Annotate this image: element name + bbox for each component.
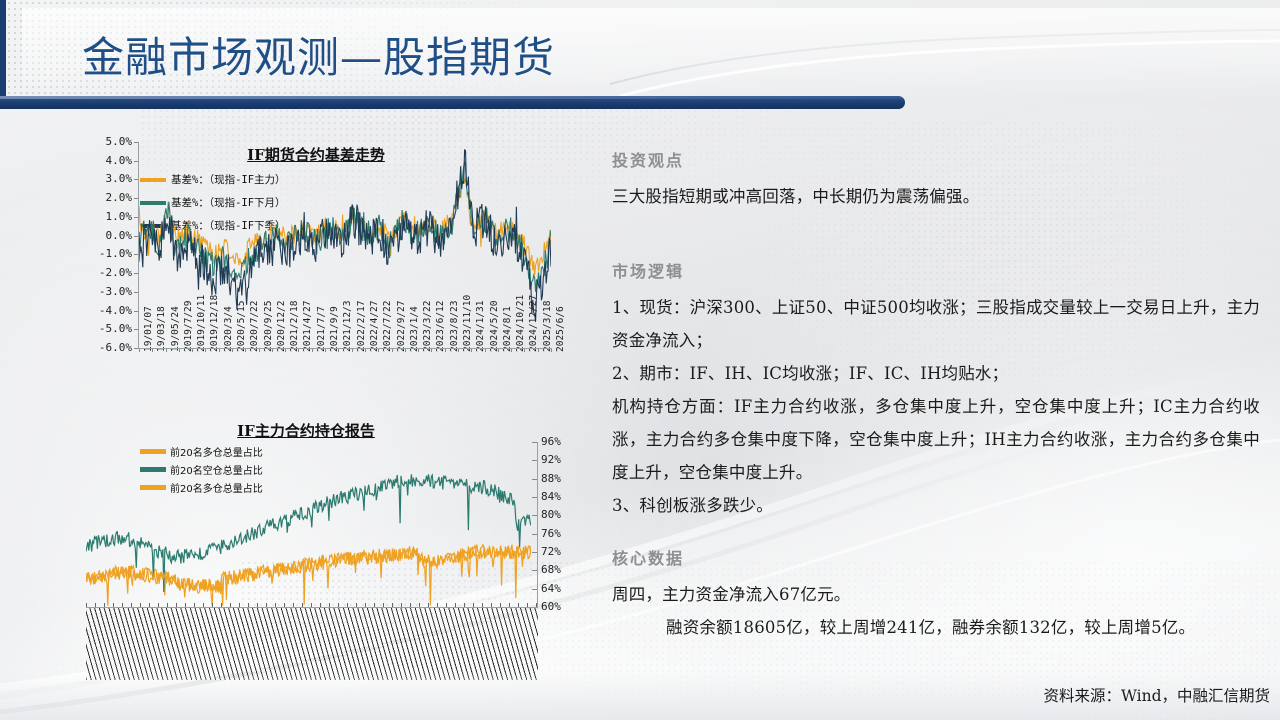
basis-chart-y-tick: 4.0%: [58, 154, 132, 167]
section-paragraph: 2、期市：IF、IH、IC均收涨；IF、IC、IH均贴水；: [612, 357, 1260, 390]
section-heading: 投资观点: [612, 146, 1260, 176]
section-spacer: [612, 213, 1260, 257]
holdings-chart-y-tick: 72%: [541, 545, 561, 558]
holdings-chart-x-tick-labels: [86, 608, 538, 680]
basis-chart-y-tick: 1.0%: [58, 210, 132, 223]
holdings-chart-y-tick: 92%: [541, 453, 561, 466]
holdings-chart-x-tick-marks: [86, 603, 538, 607]
basis-chart-x-tick: 2022/9/27: [396, 301, 407, 352]
section-paragraph: 3、科创板涨多跌少。: [612, 489, 1260, 522]
holdings-chart-y-tick: 84%: [541, 490, 561, 503]
source-note: 资料来源：Wind，中融汇信期货: [630, 684, 1270, 706]
basis-chart-x-tick: 2024/12/27: [528, 295, 539, 352]
basis-chart-x-tick: 2021/12/3: [342, 301, 353, 352]
basis-chart-x-tick: 2019/7/29: [183, 301, 194, 352]
section-paragraph: 机构持仓方面：IF主力合约收涨，多仓集中度上升，空仓集中度上升；IC主力合约收涨…: [612, 390, 1260, 489]
basis-chart-x-tick: 19/05/24: [170, 306, 181, 352]
basis-chart-y-tick: -1.0%: [58, 247, 132, 260]
section-heading: 核心数据: [612, 544, 1260, 574]
holdings-chart-y-tick: 88%: [541, 472, 561, 485]
basis-chart-y-tick: -5.0%: [58, 322, 132, 335]
basis-chart-y-tick: 0.0%: [58, 229, 132, 242]
basis-chart-x-tick: 2021/7/7: [316, 306, 327, 352]
section-spacer: [612, 522, 1260, 544]
basis-chart-x-tick: 2025/3/18: [542, 301, 553, 352]
basis-chart-x-tick: 2023/11/10: [462, 295, 473, 352]
holdings-chart-y-tick: 96%: [541, 435, 561, 448]
commentary-panel: 投资观点三大股指短期或冲高回落，中长期仍为震荡偏强。市场逻辑1、现货：沪深300…: [612, 146, 1260, 644]
basis-chart-x-tick: 2023/3/22: [422, 301, 433, 352]
holdings-chart-plot-area: [86, 442, 531, 607]
basis-chart-x-tick: 2020/12/2: [276, 301, 287, 352]
basis-chart-x-tick: 2020/7/22: [249, 301, 260, 352]
basis-chart-y-tick: -6.0%: [58, 341, 132, 354]
basis-chart-x-tick: 2022/4/27: [369, 301, 380, 352]
basis-chart-x-tick: 2025/6/6: [555, 306, 566, 352]
title-underline-highlight: [0, 96, 905, 99]
section-paragraph: 周四，主力资金净流入67亿元。: [612, 578, 1260, 611]
basis-chart-x-tick: 2020/9/25: [263, 301, 274, 352]
basis-chart-x-tick: 2021/4/27: [302, 301, 313, 352]
basis-chart-x-tick: 2024/10/21: [515, 295, 526, 352]
holdings-chart-y-tick: 80%: [541, 508, 561, 521]
basis-chart-x-tick: 2024/1/31: [475, 301, 486, 352]
left-accent-bar: [0, 0, 6, 109]
basis-chart-x-tick: 2023/6/12: [435, 301, 446, 352]
basis-chart-x-tick: 2019/12/18: [209, 295, 220, 352]
basis-chart-x-tick: 2020/5/15: [236, 301, 247, 352]
basis-chart-x-tick: 2021/2/18: [289, 301, 300, 352]
basis-chart-x-tick: 2023/8/23: [449, 301, 460, 352]
basis-chart-y-tick: 5.0%: [58, 135, 132, 148]
holdings-chart-y-tick: 76%: [541, 527, 561, 540]
basis-chart-y-tick: -4.0%: [58, 304, 132, 317]
basis-chart-y-tick: 2.0%: [58, 191, 132, 204]
basis-chart-x-tick: 2022/7/22: [382, 301, 393, 352]
section-paragraph: 1、现货：沪深300、上证50、中证500均收涨；三股指成交量较上一交易日上升，…: [612, 291, 1260, 357]
basis-chart-y-tick: 3.0%: [58, 172, 132, 185]
basis-chart-x-tick: 2024/5/20: [489, 301, 500, 352]
holdings-chart-series-line: [86, 474, 531, 592]
basis-chart-x-tick: 2020/3/4: [223, 306, 234, 352]
section-heading: 市场逻辑: [612, 257, 1260, 287]
holdings-chart-y-tick: 68%: [541, 563, 561, 576]
basis-chart-y-tick: -3.0%: [58, 285, 132, 298]
section-paragraph: 三大股指短期或冲高回落，中长期仍为震荡偏强。: [612, 180, 1260, 213]
basis-chart-x-tick: 2021/9/9: [329, 306, 340, 352]
holdings-chart-title: IF主力合约持仓报告: [156, 420, 456, 441]
slide-root: 金融市场观测—股指期货 IF期货合约基差走势 5.0%4.0%3.0%2.0%1…: [0, 0, 1280, 720]
basis-chart-x-axis-line: [138, 348, 552, 349]
basis-chart-y-tick: -2.0%: [58, 266, 132, 279]
basis-chart-x-tick: 19/03/18: [156, 306, 167, 352]
page-title: 金融市场观测—股指期货: [82, 33, 555, 83]
basis-chart: IF期货合约基差走势 5.0%4.0%3.0%2.0%1.0%0.0%-1.0%…: [56, 138, 566, 408]
basis-chart-x-tick: 2024/8/1: [502, 306, 513, 352]
basis-chart-x-tick: 2019/10/11: [196, 295, 207, 352]
basis-chart-x-tick: 2023/1/4: [409, 306, 420, 352]
basis-chart-x-tick: 2022/2/17: [356, 301, 367, 352]
holdings-chart-y-axis-line: [537, 442, 538, 607]
section-paragraph: 融资余额18605亿，较上周增241亿，融券余额132亿，较上周增5亿。: [612, 611, 1260, 644]
holdings-chart-y-tick: 60%: [541, 600, 561, 613]
holdings-chart-y-tick: 64%: [541, 582, 561, 595]
basis-chart-x-tick: 19/01/07: [143, 306, 154, 352]
holdings-chart: IF主力合约持仓报告 前20名多仓总量占比前20名空仓总量占比前20名多仓总量占…: [56, 420, 566, 700]
